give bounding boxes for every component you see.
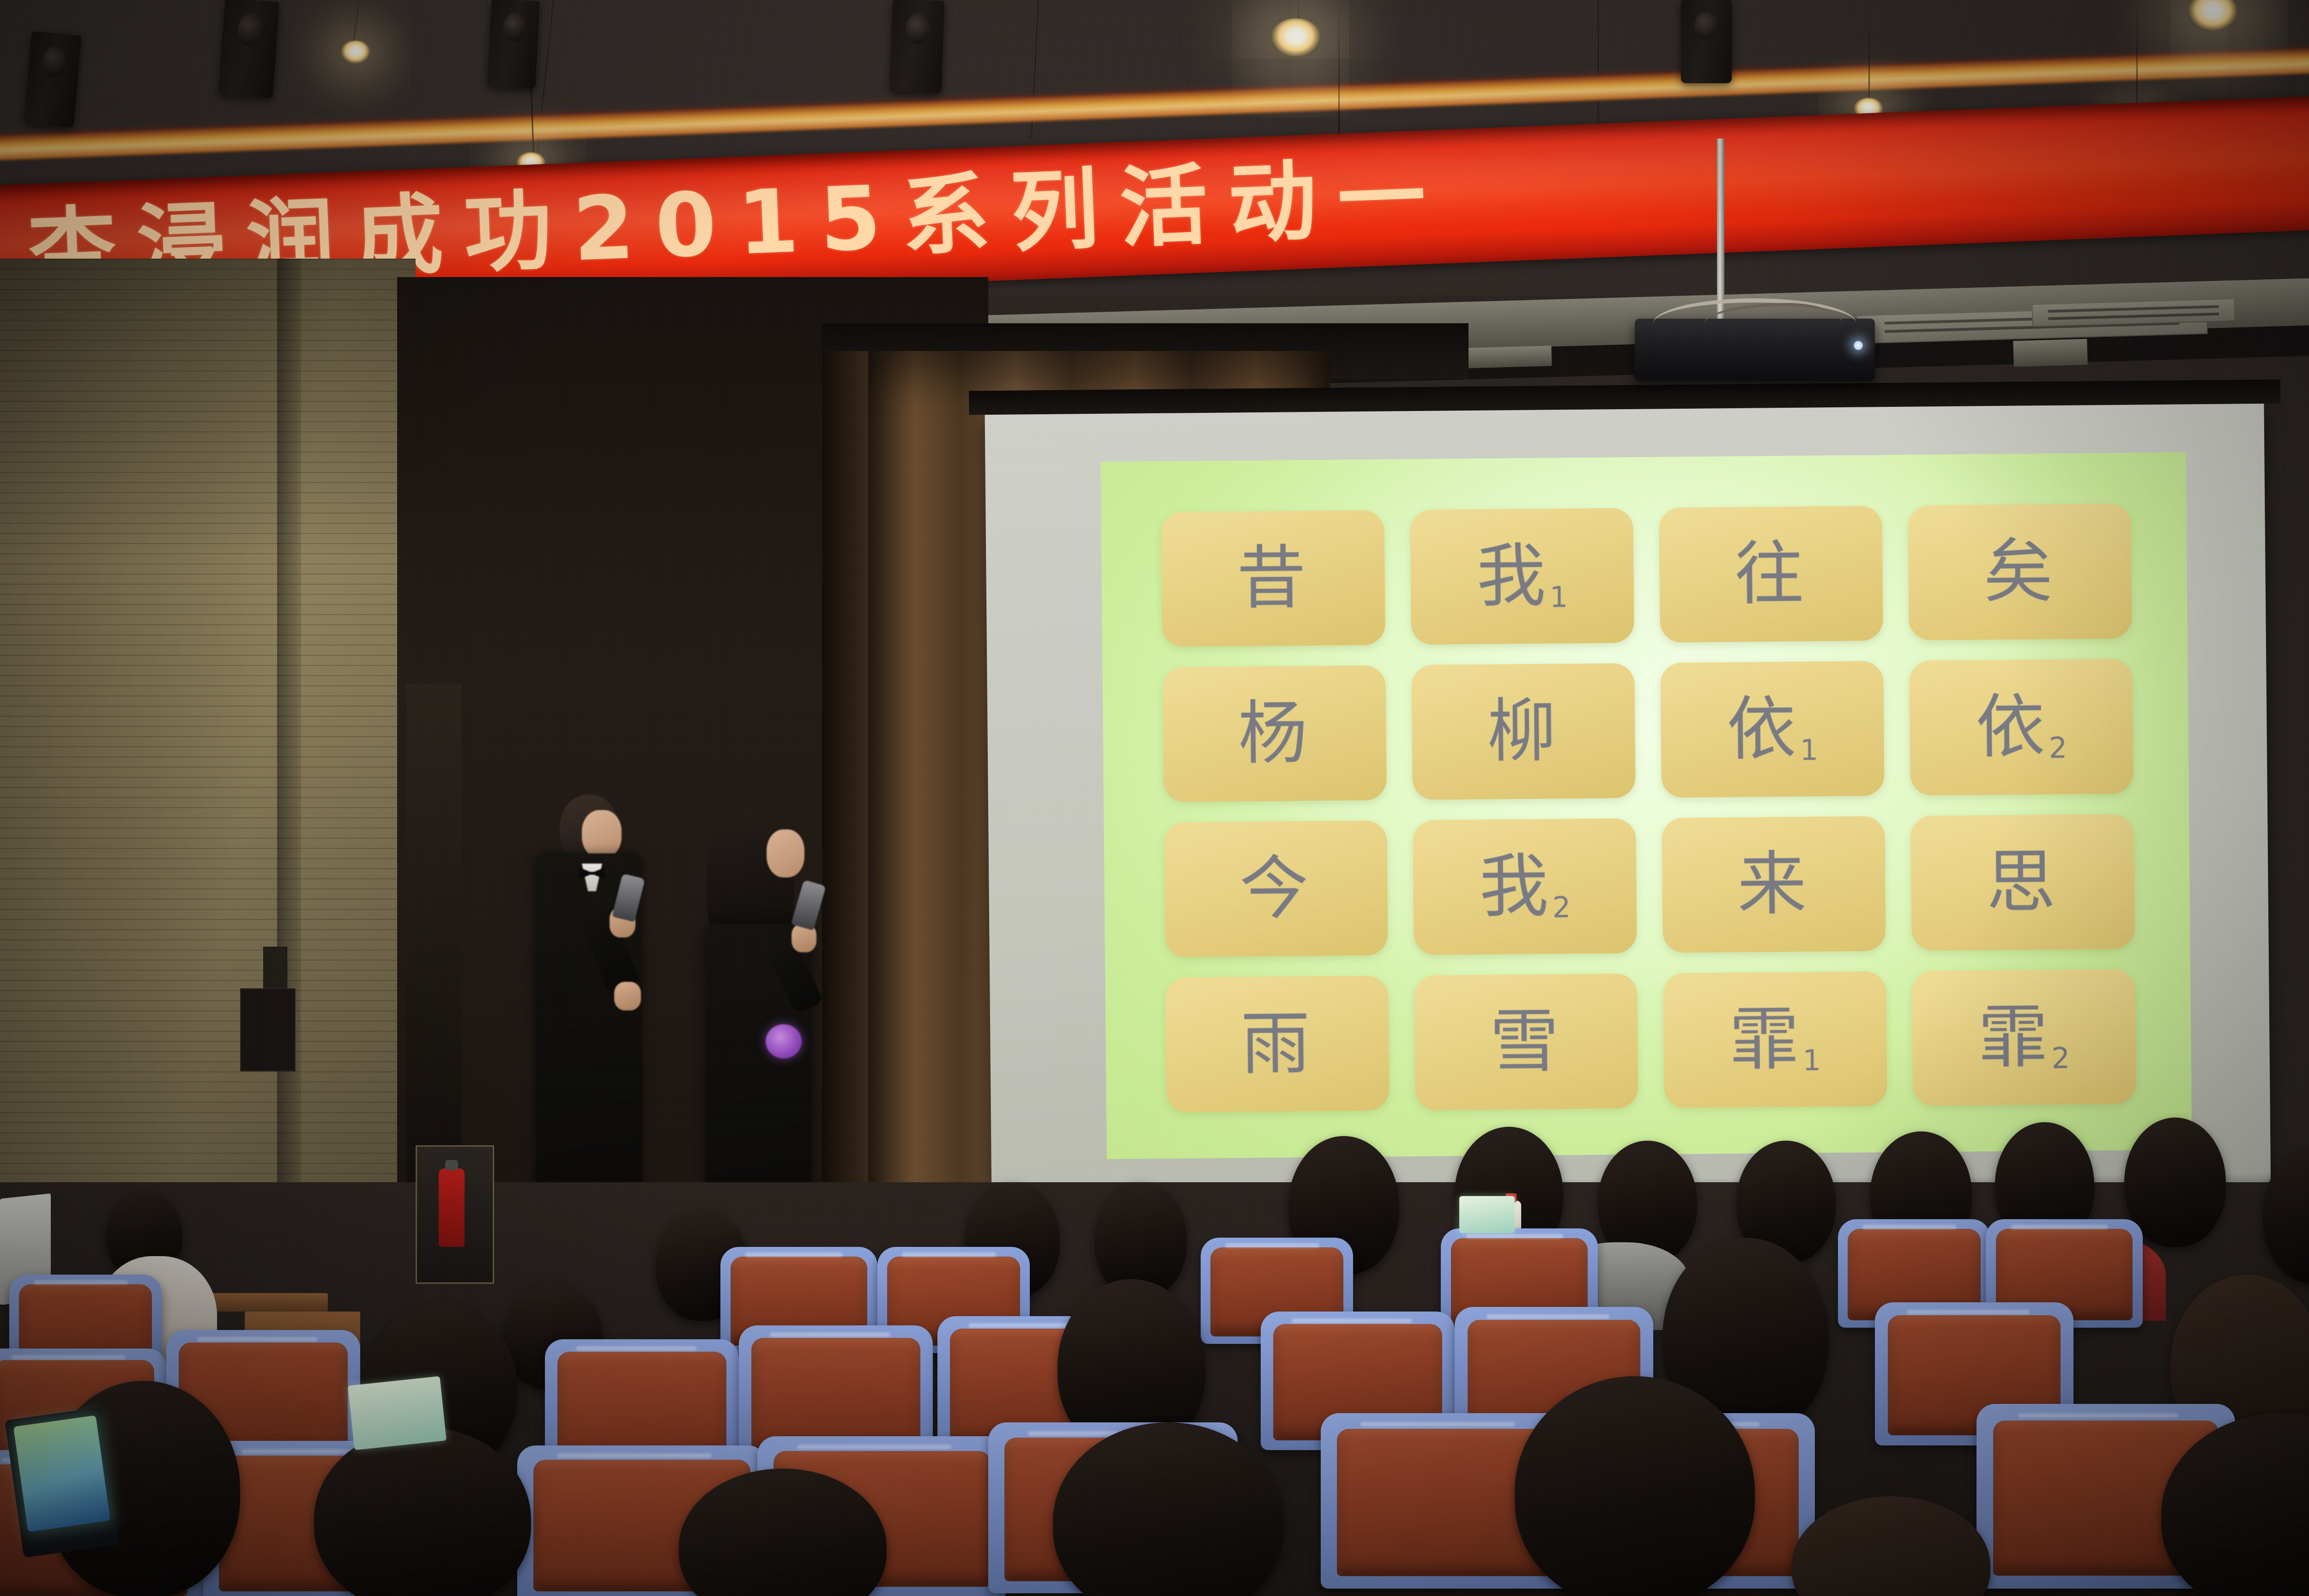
row-desk (199, 1293, 328, 1312)
character-tile: 来 (1662, 816, 1886, 953)
tile-subscript: 2 (2049, 734, 2067, 762)
tile-char: 雪 (1489, 1007, 1559, 1076)
ceiling-speaker (1681, 0, 1732, 83)
projected-slide: 昔 我1 往 矣 杨 柳 依1 依2 今 我2 来 思 雨 雪 霏1 霏2 (1100, 452, 2192, 1159)
tablet-screen (348, 1376, 447, 1450)
tile-char: 往 (1734, 539, 1804, 609)
tile-subscript: 2 (2051, 1044, 2070, 1073)
host-face (767, 829, 804, 877)
tile-char: 思 (1986, 847, 2055, 917)
character-tile: 霏1 (1663, 971, 1887, 1108)
stage-doorway (406, 683, 462, 1201)
wall-shading (0, 259, 416, 1275)
character-tile: 杨 (1162, 665, 1387, 802)
character-tile: 今 (1164, 821, 1388, 957)
wall-panel-recess (240, 988, 296, 1071)
tile-subscript: 1 (1550, 583, 1568, 611)
character-tile: 昔 (1161, 510, 1385, 647)
ceiling-projector (1635, 319, 1875, 381)
character-tile: 雪 (1414, 973, 1638, 1110)
ceiling-speaker (890, 0, 945, 93)
female-host (693, 808, 840, 1238)
character-tile: 我1 (1410, 508, 1634, 645)
host-face (582, 810, 622, 858)
ceiling-spot-lamp (1271, 18, 1321, 57)
smartphone-screen (13, 1415, 110, 1532)
character-tile: 柳 (1411, 663, 1636, 800)
wall-column (277, 259, 301, 1275)
tile-char: 霏 (1729, 1005, 1799, 1075)
character-tile: 往 (1659, 506, 1883, 642)
tablet-screen (1459, 1196, 1515, 1233)
character-tile: 思 (1910, 814, 2135, 950)
male-host (531, 794, 670, 1238)
projector-mount-pole (1717, 139, 1724, 323)
character-tile: 我2 (1413, 818, 1637, 955)
tile-char: 杨 (1238, 699, 1307, 768)
ceiling-speaker (24, 31, 81, 128)
fire-extinguisher (439, 1168, 465, 1247)
tile-char: 霏 (1978, 1003, 2048, 1072)
host-hand (614, 982, 641, 1010)
tile-subscript: 1 (1802, 1046, 1821, 1075)
tile-char: 昔 (1236, 544, 1306, 613)
tile-char: 来 (1737, 850, 1807, 919)
character-tile: 依1 (1660, 661, 1885, 798)
projector-status-led (1854, 341, 1863, 350)
tile-char: 我 (1479, 852, 1549, 922)
ceiling-bracket (2013, 339, 2088, 367)
ceiling-speaker (487, 0, 540, 89)
audience-head (1515, 1376, 1755, 1596)
corsage-badge (766, 1024, 802, 1058)
microphone (791, 880, 826, 931)
tile-char: 雨 (1240, 1009, 1310, 1079)
tile-subscript: 2 (1552, 893, 1571, 922)
tile-subscript: 1 (1800, 736, 1818, 764)
auditorium-photo: 杏浸润成功2015系列活动一 昔 我1 往 矣 (0, 0, 2309, 1596)
left-wall-wood-panel (0, 259, 416, 1275)
tile-char: 依 (1976, 692, 2045, 762)
ceiling-speaker (218, 0, 279, 99)
character-tile: 矣 (1908, 503, 2132, 640)
character-tile-grid: 昔 我1 往 矣 杨 柳 依1 依2 今 我2 来 思 雨 雪 霏1 霏2 (1161, 503, 2136, 1112)
ceiling-panel-seam (1598, 0, 1599, 139)
character-tile: 依2 (1909, 659, 2134, 795)
character-tile: 雨 (1165, 976, 1390, 1112)
lamp-wire (1868, 18, 1870, 102)
tile-char: 我 (1476, 542, 1546, 611)
character-tile: 霏2 (1912, 969, 2136, 1106)
ceiling-spot-lamp (341, 41, 370, 64)
tile-char: 依 (1727, 695, 1796, 764)
projection-screen: 昔 我1 往 矣 杨 柳 依1 依2 今 我2 来 思 雨 雪 霏1 霏2 (985, 401, 2271, 1215)
tile-char: 柳 (1487, 696, 1556, 766)
tile-char: 矣 (1983, 537, 2053, 607)
tile-char: 今 (1239, 854, 1309, 924)
